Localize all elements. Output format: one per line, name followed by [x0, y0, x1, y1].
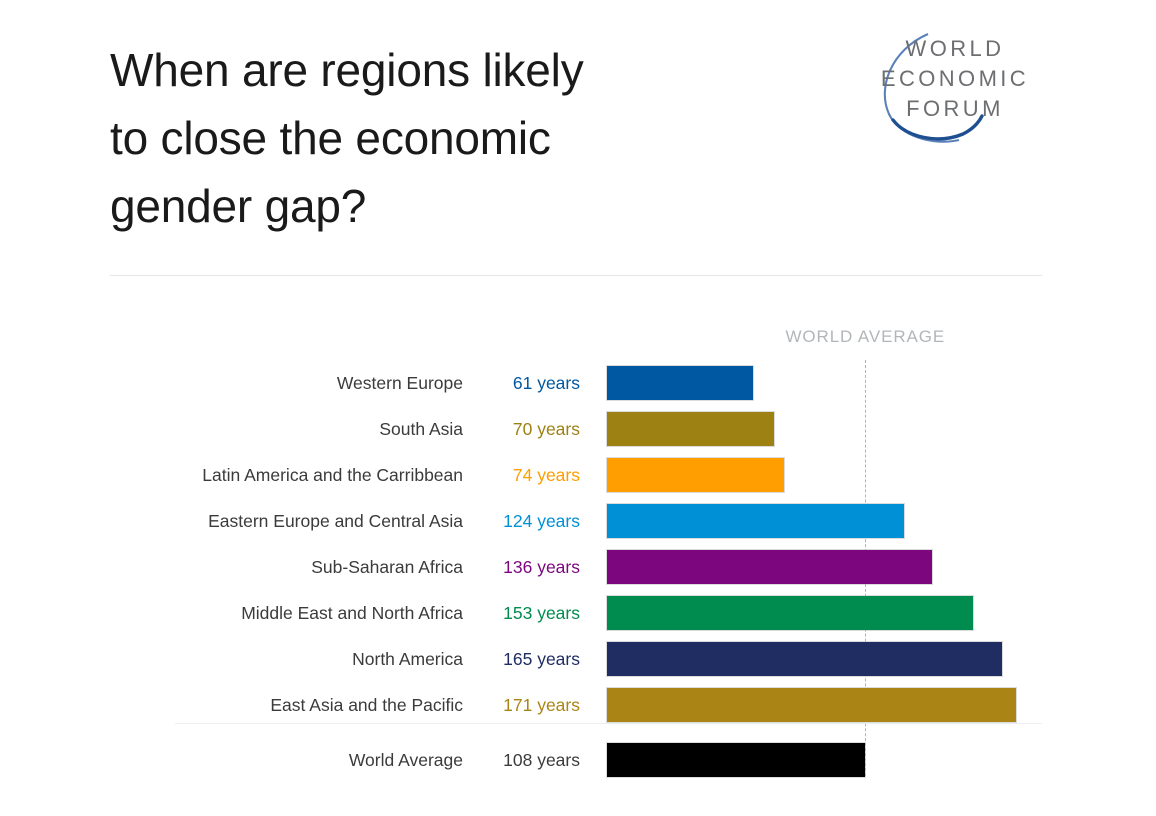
row-label: North America: [60, 636, 463, 682]
slide-canvas: When are regions likely to close the eco…: [0, 0, 1156, 816]
row-label: Western Europe: [60, 360, 463, 406]
bar-wrap: [607, 550, 932, 584]
bar: [607, 366, 753, 400]
logo-text-world: WORLD: [906, 36, 1005, 61]
bar: [607, 596, 973, 630]
row-label: Sub-Saharan Africa: [60, 544, 463, 590]
bar-wrap: [607, 458, 784, 492]
row-label: Middle East and North Africa: [60, 590, 463, 636]
world-economic-forum-logo: WORLD ECONOMIC FORUM: [855, 28, 1055, 148]
row-value: 70 years: [470, 406, 580, 452]
row-value: 61 years: [470, 360, 580, 406]
bar-wrap: [607, 642, 1002, 676]
table-row: Sub-Saharan Africa136 years: [0, 544, 1156, 590]
bar: [607, 504, 904, 538]
bar-wrap-world-average: [607, 743, 865, 777]
row-value: 124 years: [470, 498, 580, 544]
table-row: Eastern Europe and Central Asia124 years: [0, 498, 1156, 544]
page-title: When are regions likely to close the eco…: [110, 36, 750, 240]
bar-world-average: [607, 743, 865, 777]
world-average-marker-label: WORLD AVERAGE: [665, 327, 1065, 347]
row-value: 171 years: [470, 682, 580, 728]
bar: [607, 550, 932, 584]
table-row: North America165 years: [0, 636, 1156, 682]
row-label: Eastern Europe and Central Asia: [60, 498, 463, 544]
bar-wrap: [607, 688, 1016, 722]
row-value-world-average: 108 years: [470, 737, 580, 783]
bar-wrap: [607, 366, 753, 400]
bar-wrap: [607, 412, 774, 446]
row-value: 74 years: [470, 452, 580, 498]
bar-wrap: [607, 504, 904, 538]
bar: [607, 412, 774, 446]
row-label: Latin America and the Carribbean: [60, 452, 463, 498]
row-value: 165 years: [470, 636, 580, 682]
wef-logo-svg: WORLD ECONOMIC FORUM: [855, 28, 1055, 148]
table-row: Middle East and North Africa153 years: [0, 590, 1156, 636]
world-average-divider: [175, 723, 1042, 724]
bar: [607, 642, 1002, 676]
table-row-world-average: World Average 108 years: [0, 737, 1156, 783]
header-divider: [110, 275, 1042, 276]
row-value: 136 years: [470, 544, 580, 590]
row-label: South Asia: [60, 406, 463, 452]
table-row: East Asia and the Pacific171 years: [0, 682, 1156, 728]
logo-text-forum: FORUM: [906, 96, 1004, 121]
row-label-world-average: World Average: [60, 737, 463, 783]
table-row: Western Europe61 years: [0, 360, 1156, 406]
row-label: East Asia and the Pacific: [60, 682, 463, 728]
bar-wrap: [607, 596, 973, 630]
logo-text-economic: ECONOMIC: [881, 66, 1029, 91]
table-row: Latin America and the Carribbean74 years: [0, 452, 1156, 498]
bar: [607, 688, 1016, 722]
row-value: 153 years: [470, 590, 580, 636]
bar: [607, 458, 784, 492]
table-row: South Asia70 years: [0, 406, 1156, 452]
